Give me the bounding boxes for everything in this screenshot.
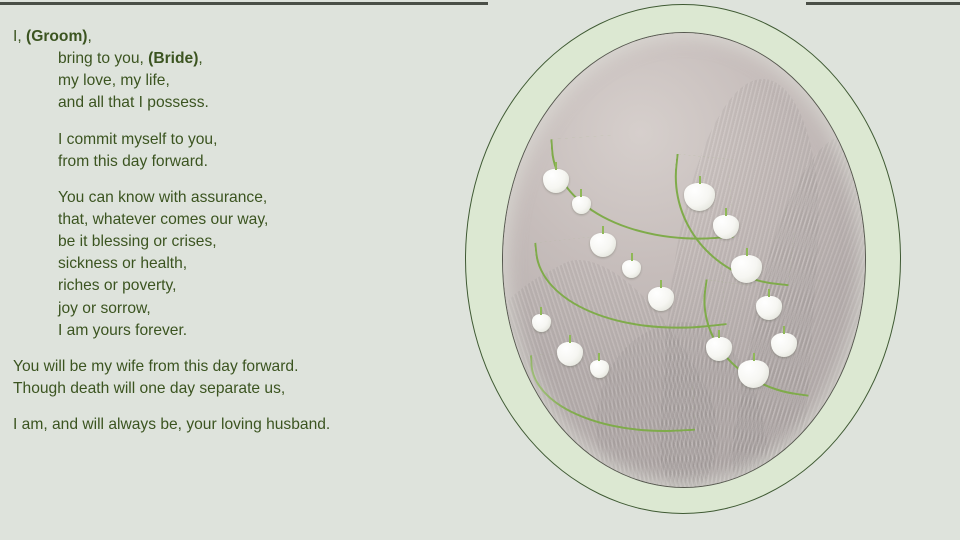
vow-text: I am yours forever.	[58, 322, 187, 339]
vow-text: Though death will one day separate us,	[13, 380, 285, 397]
vow-line: my love, my life,	[13, 70, 458, 92]
vow-line: riches or poverty,	[13, 275, 458, 297]
vow-block-opening: I, (Groom),bring to you, (Bride),my love…	[13, 26, 458, 115]
vow-line: I, (Groom),	[13, 26, 458, 48]
slide-canvas: I, (Groom),bring to you, (Bride),my love…	[0, 0, 960, 540]
vow-line: from this day forward.	[13, 151, 458, 173]
vow-block-assurance: You can know with assurance,that, whatev…	[13, 187, 458, 342]
top-rule-right	[806, 2, 960, 5]
blossom-icon	[590, 233, 616, 257]
blossom-icon	[771, 333, 797, 357]
vow-line: You will be my wife from this day forwar…	[13, 356, 458, 378]
photo-artwork	[503, 33, 865, 487]
blossom-icon	[543, 169, 569, 193]
vow-text: You can know with assurance,	[58, 189, 267, 206]
vow-line: I am yours forever.	[13, 320, 458, 342]
vow-line: bring to you, (Bride),	[13, 48, 458, 70]
vow-text: joy or sorrow,	[58, 300, 151, 317]
vow-placeholder-name: (Bride)	[148, 50, 198, 67]
vow-line: Though death will one day separate us,	[13, 378, 458, 400]
vow-line: be it blessing or crises,	[13, 231, 458, 253]
vow-line: sickness or health,	[13, 253, 458, 275]
vow-line: You can know with assurance,	[13, 187, 458, 209]
vow-line: and all that I possess.	[13, 92, 458, 114]
vow-text: ,	[88, 28, 92, 45]
vow-line: I am, and will always be, your loving hu…	[13, 414, 456, 436]
blossom-icon	[590, 360, 609, 378]
vow-text: my love, my life,	[58, 72, 170, 89]
vow-text: I,	[13, 28, 26, 45]
photo-oval-frame	[465, 4, 901, 514]
vow-text: sickness or health,	[58, 255, 187, 272]
blossom-icon	[572, 196, 591, 214]
vow-text: ,	[198, 50, 202, 67]
vow-text: You will be my wife from this day forwar…	[13, 358, 298, 375]
vow-line: joy or sorrow,	[13, 298, 458, 320]
vow-text: I commit myself to you,	[58, 131, 217, 148]
vow-line: I commit myself to you,	[13, 129, 458, 151]
vow-text-body: I, (Groom),bring to you, (Bride),my love…	[0, 0, 470, 540]
lily-of-the-valley-photo	[502, 32, 866, 488]
vow-text: and all that I possess.	[58, 94, 209, 111]
vow-line: that, whatever comes our way,	[13, 209, 458, 231]
vow-block-closing: I am, and will always be, your loving hu…	[13, 414, 456, 436]
vow-text: that, whatever comes our way,	[58, 211, 268, 228]
blossom-icon	[713, 215, 739, 239]
vow-block-wife-declaration: You will be my wife from this day forwar…	[13, 356, 458, 400]
vow-text: bring to you,	[58, 50, 148, 67]
vow-text: from this day forward.	[58, 153, 208, 170]
vow-block-commitment: I commit myself to you,from this day for…	[13, 129, 458, 173]
vow-text: I am, and will always be, your loving hu…	[13, 416, 330, 433]
vow-text: riches or poverty,	[58, 277, 176, 294]
vow-text: be it blessing or crises,	[58, 233, 217, 250]
vow-placeholder-name: (Groom)	[26, 28, 88, 45]
